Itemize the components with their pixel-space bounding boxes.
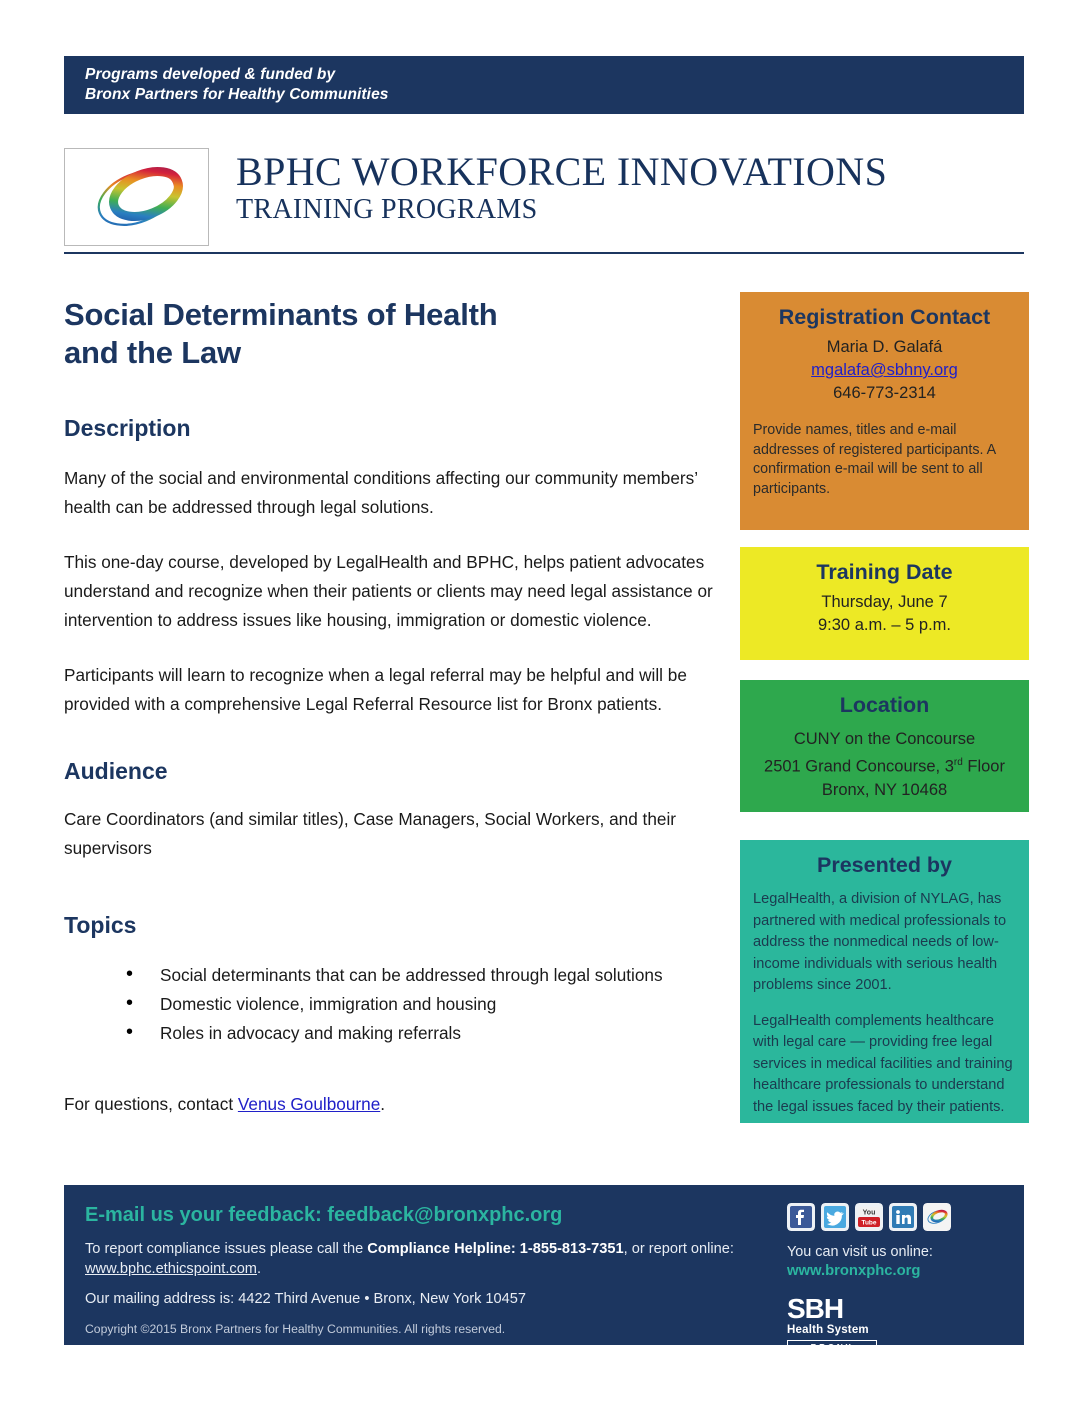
sbh-logo-sub: Health System: [787, 1323, 883, 1337]
svg-text:You: You: [863, 1210, 876, 1217]
footer-mailing-address: Our mailing address is: 4422 Third Avenu…: [85, 1289, 785, 1309]
twitter-icon[interactable]: [821, 1203, 849, 1231]
location-city-state-zip: Bronx, NY 10468: [753, 779, 1016, 802]
banner-line-2: Bronx Partners for Healthy Communities: [85, 85, 1024, 105]
location-venue: CUNY on the Concourse: [753, 728, 1016, 751]
training-date-box: Training Date Thursday, June 7 9:30 a.m.…: [740, 547, 1029, 660]
location-address-suffix: Floor: [963, 758, 1005, 776]
brand-line-2: TRAINING PROGRAMS: [236, 194, 887, 226]
registration-email-row: mgalafa@sbhny.org: [753, 359, 1016, 382]
registration-name: Maria D. Galafá: [753, 336, 1016, 359]
footer-left: E-mail us your feedback: feedback@bronxp…: [85, 1202, 785, 1338]
youtube-icon[interactable]: You Tube: [855, 1203, 883, 1231]
list-item: Social determinants that can be addresse…: [126, 961, 736, 990]
training-time-value: 9:30 a.m. – 5 p.m.: [753, 614, 1016, 637]
facebook-icon[interactable]: [787, 1203, 815, 1231]
training-date-value: Thursday, June 7: [753, 591, 1016, 614]
brand-line-1: BPHC WORKFORCE INNOVATIONS: [236, 150, 887, 194]
footer-right: You Tube: [787, 1203, 1007, 1355]
social-links: You Tube: [787, 1203, 1007, 1231]
sbh-logo-main: SBH: [787, 1295, 883, 1323]
presented-by-paragraph: LegalHealth, a division of NYLAG, has pa…: [753, 889, 1016, 997]
compliance-url-link[interactable]: www.bphc.ethicspoint.com: [85, 1261, 257, 1277]
compliance-suffix: .: [257, 1261, 261, 1277]
description-paragraph: This one-day course, developed by LegalH…: [64, 548, 736, 635]
registration-contact-box: Registration Contact Maria D. Galafá mga…: [740, 292, 1029, 530]
presented-by-box: Presented by LegalHealth, a division of …: [740, 840, 1029, 1123]
description-heading: Description: [64, 414, 736, 442]
presented-by-heading: Presented by: [753, 852, 1016, 878]
venus-goulbourne-link[interactable]: Venus Goulbourne: [238, 1094, 380, 1114]
audience-heading: Audience: [64, 757, 736, 785]
registration-email-link[interactable]: mgalafa@sbhny.org: [811, 361, 958, 379]
footer-feedback-line[interactable]: E-mail us your feedback: feedback@bronxp…: [85, 1202, 785, 1228]
audience-text: Care Coordinators (and similar titles), …: [64, 805, 736, 863]
questions-line: For questions, contact Venus Goulbourne.: [64, 1090, 736, 1119]
registration-phone: 646-773-2314: [753, 382, 1016, 405]
footer: E-mail us your feedback: feedback@bronxp…: [64, 1185, 1024, 1345]
compliance-helpline: Compliance Helpline: 1-855-813-7351: [367, 1241, 623, 1257]
course-title-line-1: Social Determinants of Health: [64, 297, 497, 332]
presented-by-paragraph: LegalHealth complements healthcare with …: [753, 1011, 1016, 1119]
list-item: Domestic violence, immigration and housi…: [126, 990, 736, 1019]
topics-heading: Topics: [64, 911, 736, 939]
topics-list: Social determinants that can be addresse…: [64, 961, 736, 1048]
banner-line-1: Programs developed & funded by: [85, 65, 1024, 85]
page-title: Social Determinants of Health and the La…: [64, 296, 736, 372]
svg-text:Tube: Tube: [861, 1220, 876, 1227]
sbh-logo-bronx: BRONX: [787, 1340, 877, 1355]
masthead: BPHC WORKFORCE INNOVATIONS TRAINING PROG…: [64, 148, 1024, 248]
linkedin-icon[interactable]: [889, 1203, 917, 1231]
footer-visit-url[interactable]: www.bronxphc.org: [787, 1262, 1007, 1281]
brand-wordmark: BPHC WORKFORCE INNOVATIONS TRAINING PROG…: [236, 150, 887, 226]
audience-body: Care Coordinators (and similar titles), …: [64, 805, 736, 863]
list-item: Roles in advocacy and making referrals: [126, 1019, 736, 1048]
location-box: Location CUNY on the Concourse 2501 Gran…: [740, 680, 1029, 812]
description-body: Many of the social and environmental con…: [64, 464, 736, 719]
training-date-heading: Training Date: [753, 559, 1016, 585]
program-funding-banner: Programs developed & funded by Bronx Par…: [64, 56, 1024, 114]
bphc-logo-icon[interactable]: [923, 1203, 951, 1231]
footer-copyright: Copyright ©2015 Bronx Partners for Healt…: [85, 1321, 785, 1338]
footer-compliance-block: To report compliance issues please call …: [85, 1239, 785, 1279]
masthead-divider: [64, 252, 1024, 254]
location-address: 2501 Grand Concourse, 3rd Floor: [753, 751, 1016, 779]
registration-note: Provide names, titles and e-mail address…: [753, 421, 1016, 499]
compliance-mid: , or report online:: [624, 1241, 734, 1257]
location-heading: Location: [753, 692, 1016, 718]
description-paragraph: Many of the social and environmental con…: [64, 464, 736, 522]
sbh-health-system-logo: SBH Health System BRONX: [787, 1295, 883, 1355]
logo-container: [64, 148, 209, 246]
flyer-page: Programs developed & funded by Bronx Par…: [0, 0, 1088, 1408]
questions-suffix: .: [380, 1094, 385, 1114]
location-address-prefix: 2501 Grand Concourse, 3: [764, 758, 954, 776]
compliance-prefix: To report compliance issues please call …: [85, 1241, 367, 1257]
main-content: Social Determinants of Health and the La…: [64, 296, 736, 1119]
footer-visit-label: You can visit us online:: [787, 1243, 1007, 1262]
bphc-rings-logo-icon: [73, 158, 201, 238]
course-title-line-2: and the Law: [64, 335, 241, 370]
location-address-ordinal: rd: [954, 757, 963, 768]
questions-prefix: For questions, contact: [64, 1094, 238, 1114]
registration-heading: Registration Contact: [753, 304, 1016, 330]
footer-compliance-line: To report compliance issues please call …: [85, 1239, 785, 1279]
description-paragraph: Participants will learn to recognize whe…: [64, 661, 736, 719]
